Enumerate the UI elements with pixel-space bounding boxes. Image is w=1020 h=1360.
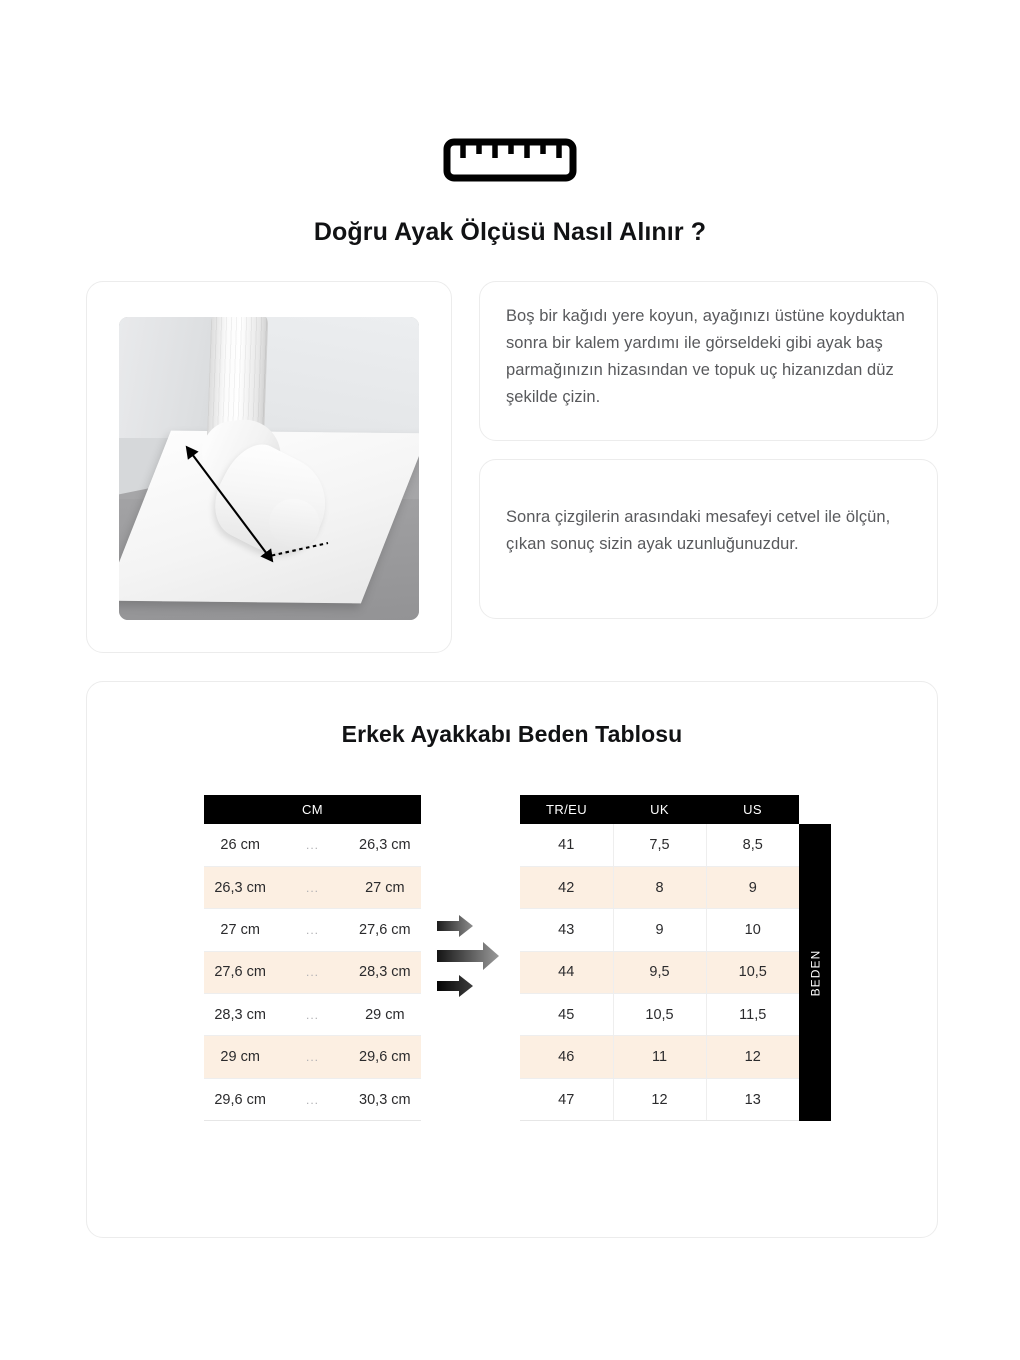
page-title: Doğru Ayak Ölçüsü Nasıl Alınır ? — [0, 218, 1020, 247]
instruction-text-1: Boş bir kağıdı yere koyun, ayağınızı üst… — [506, 303, 913, 411]
cm-table-header-row: CM — [204, 795, 421, 824]
cm-to: 27 cm — [349, 866, 421, 908]
size-us: 10,5 — [706, 951, 799, 993]
table-row: 45 10,5 11,5 — [520, 994, 799, 1036]
table-row: 46 11 12 — [520, 1036, 799, 1078]
instruction-text-2: Sonra çizgilerin arasındaki mesafeyi cet… — [506, 504, 913, 558]
size-table-header-row: TR/EU UK US — [520, 795, 799, 824]
table-row: 29 cm ... 29,6 cm — [204, 1036, 421, 1078]
conversion-arrows-icon — [435, 913, 513, 999]
cm-to: 30,3 cm — [349, 1078, 421, 1120]
table-row: 29,6 cm ... 30,3 cm — [204, 1078, 421, 1120]
cm-separator: ... — [276, 1078, 348, 1120]
size-us: 13 — [706, 1078, 799, 1120]
size-us: 12 — [706, 1036, 799, 1078]
size-us: 10 — [706, 909, 799, 951]
table-row: 26,3 cm ... 27 cm — [204, 866, 421, 908]
size-tr-eu: 45 — [520, 994, 613, 1036]
size-tables-area: CM 26 cm ... 26,3 cm 26,3 cm ... 27 cm — [87, 795, 937, 1135]
table-row: 47 12 13 — [520, 1078, 799, 1120]
table-row: 26 cm ... 26,3 cm — [204, 824, 421, 866]
cm-from: 26 cm — [204, 824, 276, 866]
size-uk: 8 — [613, 866, 706, 908]
measurement-arrow-icon — [119, 317, 419, 620]
cm-separator: ... — [276, 1036, 348, 1078]
table-row: 27 cm ... 27,6 cm — [204, 909, 421, 951]
header-tr-eu: TR/EU — [520, 795, 613, 824]
size-tr-eu: 47 — [520, 1078, 613, 1120]
size-tr-eu: 43 — [520, 909, 613, 951]
cm-from: 29,6 cm — [204, 1078, 276, 1120]
instruction-card-1: Boş bir kağıdı yere koyun, ayağınızı üst… — [479, 281, 938, 441]
shoe-size-table: TR/EU UK US 41 7,5 8,5 42 8 9 — [520, 795, 799, 1121]
cm-separator: ... — [276, 824, 348, 866]
header-us: US — [706, 795, 799, 824]
size-table-title: Erkek Ayakkabı Beden Tablosu — [87, 721, 937, 748]
foot-measure-photo-card — [86, 281, 452, 653]
size-tr-eu: 41 — [520, 824, 613, 866]
size-guide-page: Doğru Ayak Ölçüsü Nasıl Alınır ? — [0, 0, 1020, 1360]
cm-to: 29 cm — [349, 994, 421, 1036]
cm-from: 26,3 cm — [204, 866, 276, 908]
size-us: 11,5 — [706, 994, 799, 1036]
cm-measurement-table: CM 26 cm ... 26,3 cm 26,3 cm ... 27 cm — [204, 795, 421, 1121]
cm-to: 26,3 cm — [349, 824, 421, 866]
cm-to: 29,6 cm — [349, 1036, 421, 1078]
ruler-icon — [443, 138, 577, 182]
cm-from: 27,6 cm — [204, 951, 276, 993]
cm-to: 27,6 cm — [349, 909, 421, 951]
size-uk: 9 — [613, 909, 706, 951]
size-uk: 12 — [613, 1078, 706, 1120]
table-row: 27,6 cm ... 28,3 cm — [204, 951, 421, 993]
foot-measure-photo — [119, 317, 419, 620]
instruction-card-2: Sonra çizgilerin arasındaki mesafeyi cet… — [479, 459, 938, 619]
table-row: 42 8 9 — [520, 866, 799, 908]
table-row: 43 9 10 — [520, 909, 799, 951]
cm-from: 28,3 cm — [204, 994, 276, 1036]
table-row: 44 9,5 10,5 — [520, 951, 799, 993]
size-uk: 7,5 — [613, 824, 706, 866]
table-row: 41 7,5 8,5 — [520, 824, 799, 866]
size-uk: 11 — [613, 1036, 706, 1078]
size-uk: 9,5 — [613, 951, 706, 993]
cm-column-header: CM — [204, 795, 421, 824]
cm-from: 29 cm — [204, 1036, 276, 1078]
size-us: 9 — [706, 866, 799, 908]
size-tr-eu: 44 — [520, 951, 613, 993]
size-us: 8,5 — [706, 824, 799, 866]
cm-separator: ... — [276, 909, 348, 951]
cm-to: 28,3 cm — [349, 951, 421, 993]
size-tr-eu: 46 — [520, 1036, 613, 1078]
cm-from: 27 cm — [204, 909, 276, 951]
beden-vertical-label-bar: BEDEN — [799, 824, 831, 1121]
size-table-card: Erkek Ayakkabı Beden Tablosu CM 26 cm ..… — [86, 681, 938, 1238]
cm-separator: ... — [276, 994, 348, 1036]
cm-separator: ... — [276, 866, 348, 908]
cm-separator: ... — [276, 951, 348, 993]
size-tr-eu: 42 — [520, 866, 613, 908]
header-uk: UK — [613, 795, 706, 824]
beden-label: BEDEN — [808, 949, 822, 996]
table-row: 28,3 cm ... 29 cm — [204, 994, 421, 1036]
ruler-icon-container — [0, 138, 1020, 182]
size-uk: 10,5 — [613, 994, 706, 1036]
